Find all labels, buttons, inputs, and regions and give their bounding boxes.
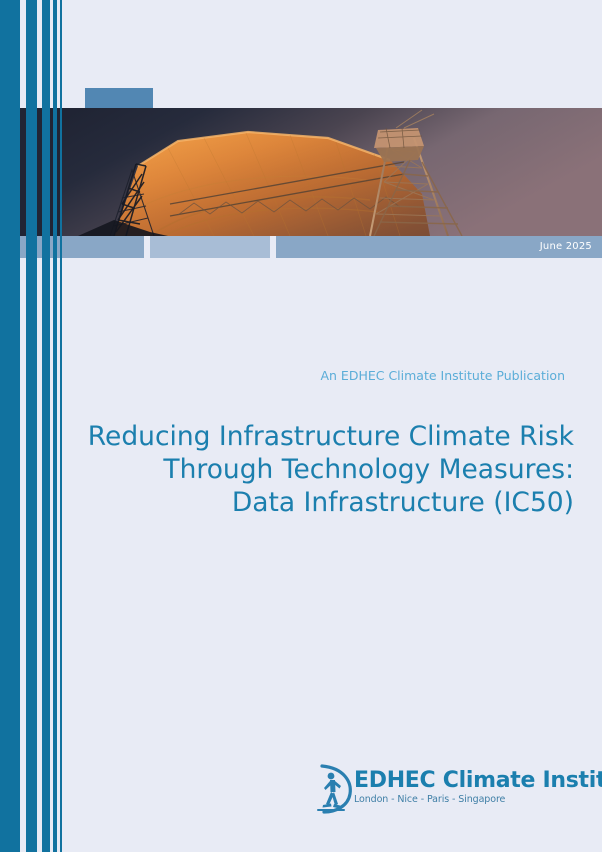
edhec-climate-institute-logo: EDHEC Climate Institute London - Nice - … — [310, 762, 568, 814]
document-cover-page: June 2025 An EDHEC Climate Institute Pub… — [0, 0, 602, 852]
stripe-overlay-2 — [37, 108, 42, 236]
edhec-logo-mark-icon — [310, 762, 356, 814]
logo-name-bold: EDHEC — [354, 768, 435, 793]
stripe-overlay-4 — [57, 108, 60, 236]
page-title-line-1: Reducing Infrastructure Climate Risk — [14, 420, 574, 453]
stripe-overlay-3 — [50, 108, 53, 236]
logo-name: EDHEC Climate Institute — [354, 768, 602, 793]
cover-photo — [18, 108, 602, 236]
publication-date: June 2025 — [540, 236, 592, 258]
stripe-5 — [60, 0, 62, 852]
publication-kicker: An EDHEC Climate Institute Publication — [320, 368, 565, 383]
stripe-photo-overlay — [0, 108, 60, 236]
logo-name-rest: Climate Institute — [435, 768, 602, 793]
date-band-segment-2 — [150, 236, 270, 258]
stripe-overlay-1 — [20, 108, 26, 236]
date-band: June 2025 — [18, 236, 602, 258]
page-title-line-2: Through Technology Measures: — [14, 453, 574, 486]
page-title-line-3: Data Infrastructure (IC50) — [14, 486, 574, 519]
page-title: Reducing Infrastructure Climate Risk Thr… — [14, 420, 574, 519]
header-accent-tab — [85, 88, 153, 108]
logo-text-block: EDHEC Climate Institute London - Nice - … — [354, 768, 602, 805]
logo-tagline: London - Nice - Paris - Singapore — [354, 794, 602, 805]
